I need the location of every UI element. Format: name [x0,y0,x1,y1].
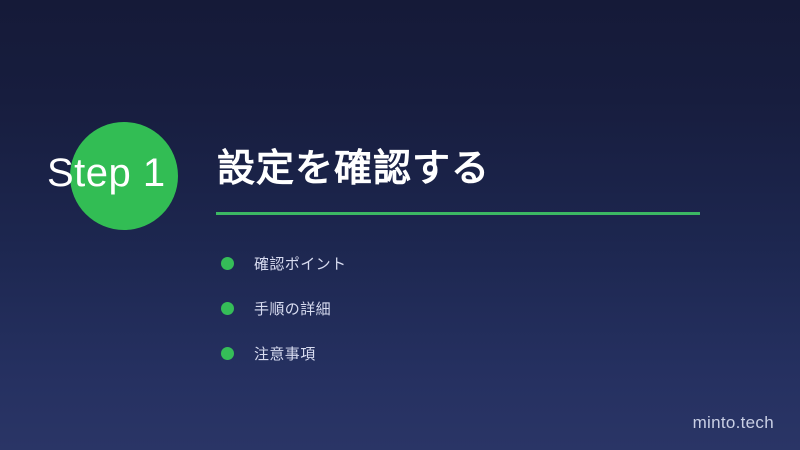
list-item: 注意事項 [221,331,346,376]
bullet-list: 確認ポイント 手順の詳細 注意事項 [221,241,346,376]
step-label: Step 1 [47,153,166,193]
list-item: 手順の詳細 [221,286,346,331]
list-item: 確認ポイント [221,241,346,286]
slide-canvas: Step 1 設定を確認する 確認ポイント 手順の詳細 注意事項 minto.t… [0,0,800,450]
footer-branding: minto.tech [693,413,774,433]
list-item-label: 確認ポイント [254,253,346,274]
bullet-dot-icon [221,302,234,315]
bullet-dot-icon [221,347,234,360]
bullet-dot-icon [221,257,234,270]
list-item-label: 注意事項 [254,343,316,364]
page-title: 設定を確認する [217,148,490,192]
title-divider [216,212,700,215]
list-item-label: 手順の詳細 [254,298,331,319]
